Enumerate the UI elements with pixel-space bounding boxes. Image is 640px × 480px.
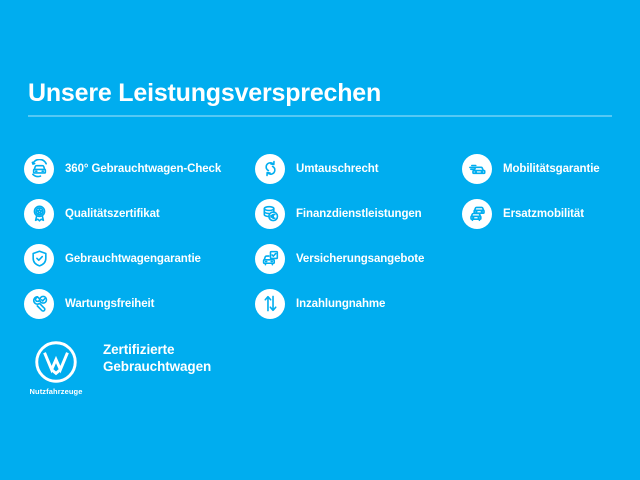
feature-item-qualitaetszertifikat[interactable]: Qualitätszertifikat [24,191,256,236]
feature-label: 360° Gebrauchtwagen-Check [65,162,221,176]
feature-label: Qualitätszertifikat [65,207,160,221]
car-speed-icon [462,154,492,184]
features-column-1: 360° Gebrauchtwagen-Check Qualitätszerti… [24,146,256,326]
brand-lockup: Nutzfahrzeuge Zertifizierte Gebrauchtwag… [25,340,211,396]
feature-label: Inzahlungnahme [296,297,385,311]
feature-item-mobilitaetsgarantie[interactable]: Mobilitätsgarantie [462,146,640,191]
volkswagen-logo [34,340,78,384]
shield-check-icon [24,244,54,274]
feature-item-gebrauchtwagen-check[interactable]: 360° Gebrauchtwagen-Check [24,146,256,191]
two-cars-icon [462,199,492,229]
feature-label: Mobilitätsgarantie [503,162,600,176]
feature-label: Ersatzmobilität [503,207,584,221]
features-column-2: Umtauschrecht Finanzdienstleistun [255,146,460,326]
feature-item-gebrauchtwagengarantie[interactable]: Gebrauchtwagengarantie [24,236,256,281]
feature-item-umtauschrecht[interactable]: Umtauschrecht [255,146,460,191]
slide-root: Unsere Leistungsversprechen [0,0,640,480]
exchange-arrows-icon [255,154,285,184]
feature-item-ersatzmobilitaet[interactable]: Ersatzmobilität [462,191,640,236]
brand-claim-line-2: Gebrauchtwagen [103,359,211,376]
feature-label: Umtauschrecht [296,162,378,176]
wrench-check-icon [24,289,54,319]
page-title: Unsere Leistungsversprechen [28,78,612,108]
feature-item-inzahlungnahme[interactable]: Inzahlungnahme [255,281,460,326]
feature-label: Gebrauchtwagengarantie [65,252,201,266]
feature-label: Wartungsfreiheit [65,297,154,311]
title-block: Unsere Leistungsversprechen [28,78,612,117]
feature-label: Versicherungsangebote [296,252,424,266]
feature-label: Finanzdienstleistungen [296,207,422,221]
award-rosette-icon [24,199,54,229]
brand-claim: Zertifizierte Gebrauchtwagen [103,342,211,375]
brand-claim-line-1: Zertifizierte [103,342,211,359]
coins-euro-icon [255,199,285,229]
up-down-arrows-icon [255,289,285,319]
feature-item-finanzdienstleistungen[interactable]: Finanzdienstleistungen [255,191,460,236]
car-inspection-icon [24,154,54,184]
brand-sub-label: Nutzfahrzeuge [25,387,87,396]
title-divider [28,115,612,117]
brand-mark: Nutzfahrzeuge [25,340,87,396]
car-document-check-icon [255,244,285,274]
feature-item-versicherungsangebote[interactable]: Versicherungsangebote [255,236,460,281]
feature-item-wartungsfreiheit[interactable]: Wartungsfreiheit [24,281,256,326]
features-column-3: Mobilitätsgarantie [462,146,640,236]
